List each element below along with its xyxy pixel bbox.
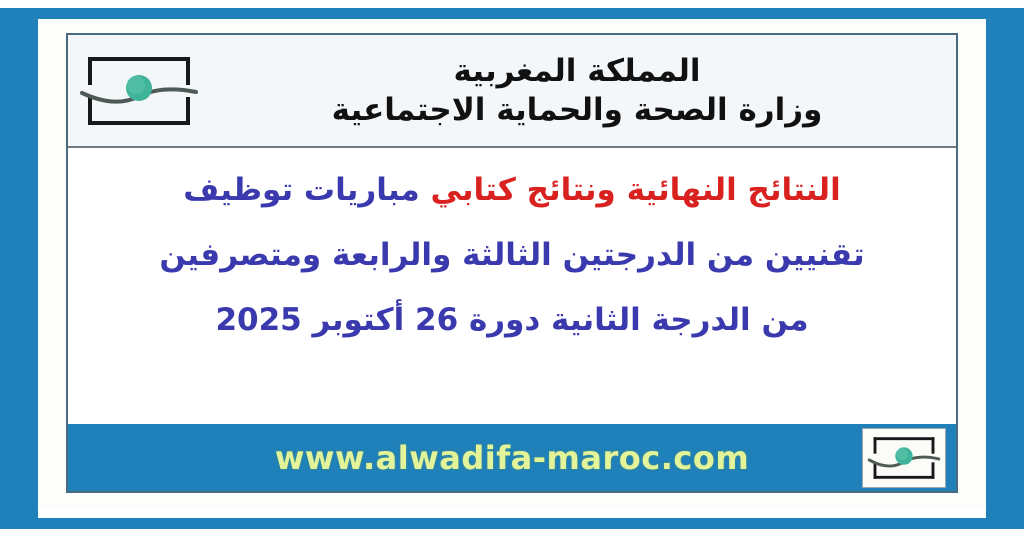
header-titles: المملكة المغربية وزارة الصحة والحماية ال… — [68, 54, 956, 127]
card-footer: www.alwadifa-maroc.com — [68, 424, 956, 491]
announcement-headline: النتائج النهائية ونتائج كتابي مباريات تو… — [94, 166, 930, 345]
announcement-image: المملكة المغربية وزارة الصحة والحماية ال… — [0, 0, 1024, 538]
headline-line-3: من الدرجة الثانية دورة 26 أكتوبر 2025 — [94, 296, 930, 345]
bottom-blue-band — [0, 518, 1024, 529]
top-blue-band — [0, 8, 1024, 19]
ministry-logo-icon — [80, 47, 198, 135]
headline-line-1-blue: مباريات توظيف — [183, 172, 419, 208]
left-blue-rail — [0, 8, 38, 519]
ministry-title: وزارة الصحة والحماية الاجتماعية — [198, 93, 956, 128]
headline-line-1: النتائج النهائية ونتائج كتابي مباريات تو… — [94, 166, 930, 215]
right-blue-rail — [986, 8, 1024, 519]
announcement-card: المملكة المغربية وزارة الصحة والحماية ال… — [66, 33, 958, 493]
footer-ministry-logo-icon — [862, 428, 946, 488]
card-header: المملكة المغربية وزارة الصحة والحماية ال… — [68, 35, 956, 148]
headline-line-3-day: 26 — [415, 296, 458, 345]
kingdom-title: المملكة المغربية — [198, 54, 956, 89]
headline-line-2: تقنيين من الدرجتين الثالثة والرابعة ومتص… — [94, 231, 930, 280]
card-body: النتائج النهائية ونتائج كتابي مباريات تو… — [68, 148, 956, 424]
website-url[interactable]: www.alwadifa-maroc.com — [275, 439, 749, 477]
headline-line-3-year: 2025 — [215, 296, 301, 345]
headline-line-3-month: أكتوبر — [313, 302, 405, 338]
headline-line-1-red: النتائج النهائية ونتائج كتابي — [430, 172, 840, 208]
headline-line-3-prefix: من الدرجة الثانية دورة — [469, 302, 809, 338]
